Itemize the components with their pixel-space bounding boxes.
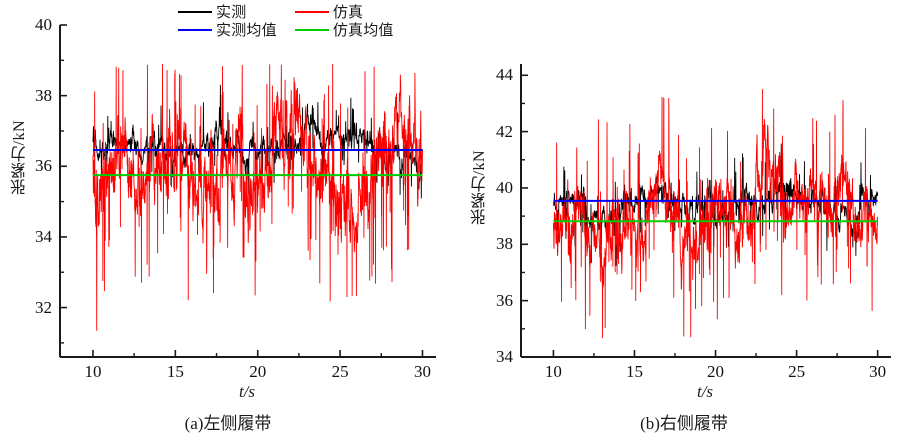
x-tick-label: 15 <box>167 362 184 382</box>
legend-simulated-mean[interactable]: 仿真均值 <box>295 22 394 39</box>
panel-caption-index-b: (b) <box>640 414 660 433</box>
plot-canvas-a <box>0 0 456 438</box>
y-tick-label: 42 <box>475 122 513 142</box>
y-tick-label: 38 <box>475 234 513 254</box>
x-tick-label: 30 <box>869 362 886 382</box>
y-axis-title-unit: /kN <box>471 150 488 176</box>
legend-measured-mean-swatch-icon <box>178 29 212 31</box>
legend-simulated-mean-swatch-icon <box>295 29 329 31</box>
x-tick-label: 25 <box>788 362 805 382</box>
x-tick-label: 20 <box>707 362 724 382</box>
legend-measured-label: 实测 <box>216 4 246 21</box>
y-axis-title-name: 张紧力 <box>10 146 29 196</box>
x-tick-label: 25 <box>332 362 349 382</box>
x-tick-label: 20 <box>249 362 266 382</box>
panel-caption-text-a: 左侧履带 <box>203 414 271 434</box>
y-axis-title: 张紧力/kN <box>8 120 32 195</box>
legend-simulated[interactable]: 仿真 <box>295 4 394 21</box>
x-axis-title: t/s <box>239 382 255 402</box>
y-tick-label: 32 <box>14 298 52 318</box>
y-tick-label: 38 <box>14 86 52 106</box>
legend-simulated-swatch-icon <box>295 11 329 13</box>
panel-caption-a: (a)左侧履带 <box>0 409 456 434</box>
y-axis-title: 张紧力/kN <box>468 150 492 225</box>
legend-simulated-mean-label: 仿真均值 <box>333 22 394 39</box>
legend-simulated-label: 仿真 <box>333 4 363 21</box>
panel-caption-b: (b)右侧履带 <box>456 409 912 434</box>
y-tick-label: 34 <box>14 227 52 247</box>
panel-caption-text-b: 右侧履带 <box>660 414 728 434</box>
y-axis-title-name: 张紧力 <box>470 176 489 226</box>
series-group <box>553 89 877 338</box>
y-axis-title-unit: /kN <box>11 120 28 146</box>
y-tick-label: 34 <box>475 347 513 367</box>
panel-caption-index-a: (a) <box>185 414 204 433</box>
legend-measured-mean[interactable]: 实测均值 <box>178 22 277 39</box>
x-tick-label: 30 <box>414 362 431 382</box>
y-tick-label: 44 <box>475 65 513 85</box>
y-tick-label: 40 <box>14 15 52 35</box>
legend-measured[interactable]: 实测 <box>178 4 277 21</box>
legend-measured-swatch-icon <box>178 11 212 13</box>
x-tick-label: 10 <box>545 362 562 382</box>
series-line-simulated <box>93 64 423 331</box>
x-tick-label: 10 <box>84 362 101 382</box>
series-group <box>93 64 423 331</box>
x-tick-label: 15 <box>626 362 643 382</box>
figure-root: 实测仿真实测均值仿真均值 (a)左侧履带 3234363840101520253… <box>0 0 913 438</box>
legend-measured-mean-label: 实测均值 <box>216 22 277 39</box>
x-axis-title: t/s <box>697 382 713 402</box>
chart-legend-a: 实测仿真实测均值仿真均值 <box>178 4 394 39</box>
chart-panel-b: 实测仿真实测均值仿真均值 (b)右侧履带 3436384042441015202… <box>456 0 912 438</box>
plot-canvas-b <box>456 0 913 438</box>
y-tick-label: 36 <box>475 291 513 311</box>
chart-panel-a: 实测仿真实测均值仿真均值 (a)左侧履带 3234363840101520253… <box>0 0 456 438</box>
